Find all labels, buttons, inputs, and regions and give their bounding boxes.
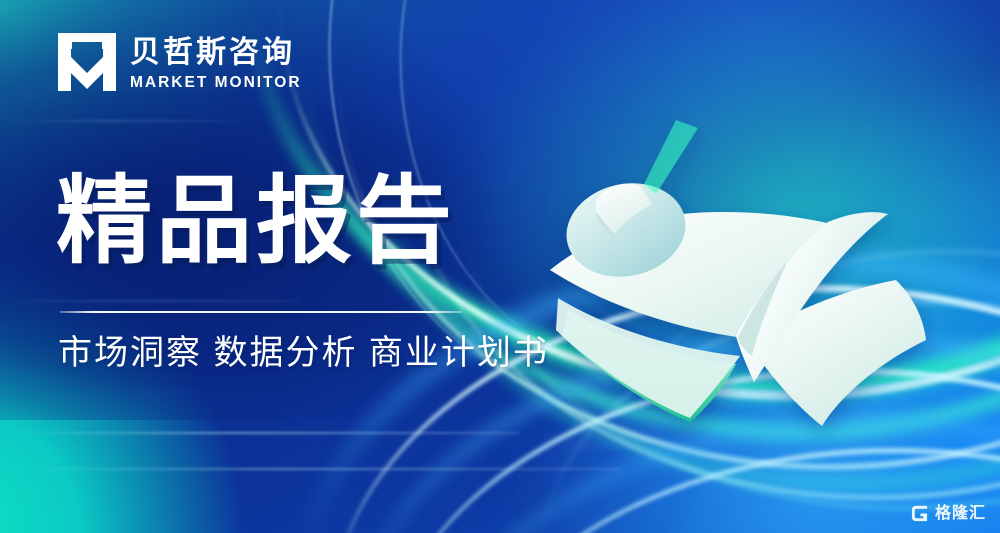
page-subtitle: 市场洞察 数据分析 商业计划书 [58, 330, 549, 378]
title-divider [60, 311, 462, 313]
ray-2 [0, 468, 620, 470]
watermark-text: 格隆汇 [935, 506, 986, 522]
ray-3 [0, 300, 300, 302]
open-book-illustration [540, 150, 940, 440]
brand-text-block: 贝哲斯咨询 MARKET MONITOR [130, 38, 302, 91]
brand-name-en: MARKET MONITOR [130, 75, 302, 91]
gelonghui-logo-icon [910, 504, 929, 523]
ray-4 [0, 120, 240, 122]
ray-1 [0, 432, 520, 434]
brand-logo: 贝哲斯咨询 MARKET MONITOR [58, 33, 302, 95]
brand-name-cn: 贝哲斯咨询 [130, 38, 302, 68]
market-monitor-logo-icon [58, 33, 116, 95]
promo-banner: 贝哲斯咨询 MARKET MONITOR 精品报告 市场洞察 数据分析 商业计划… [0, 0, 1000, 533]
page-title: 精品报告 [56, 174, 456, 270]
watermark: 格隆汇 [910, 504, 986, 523]
